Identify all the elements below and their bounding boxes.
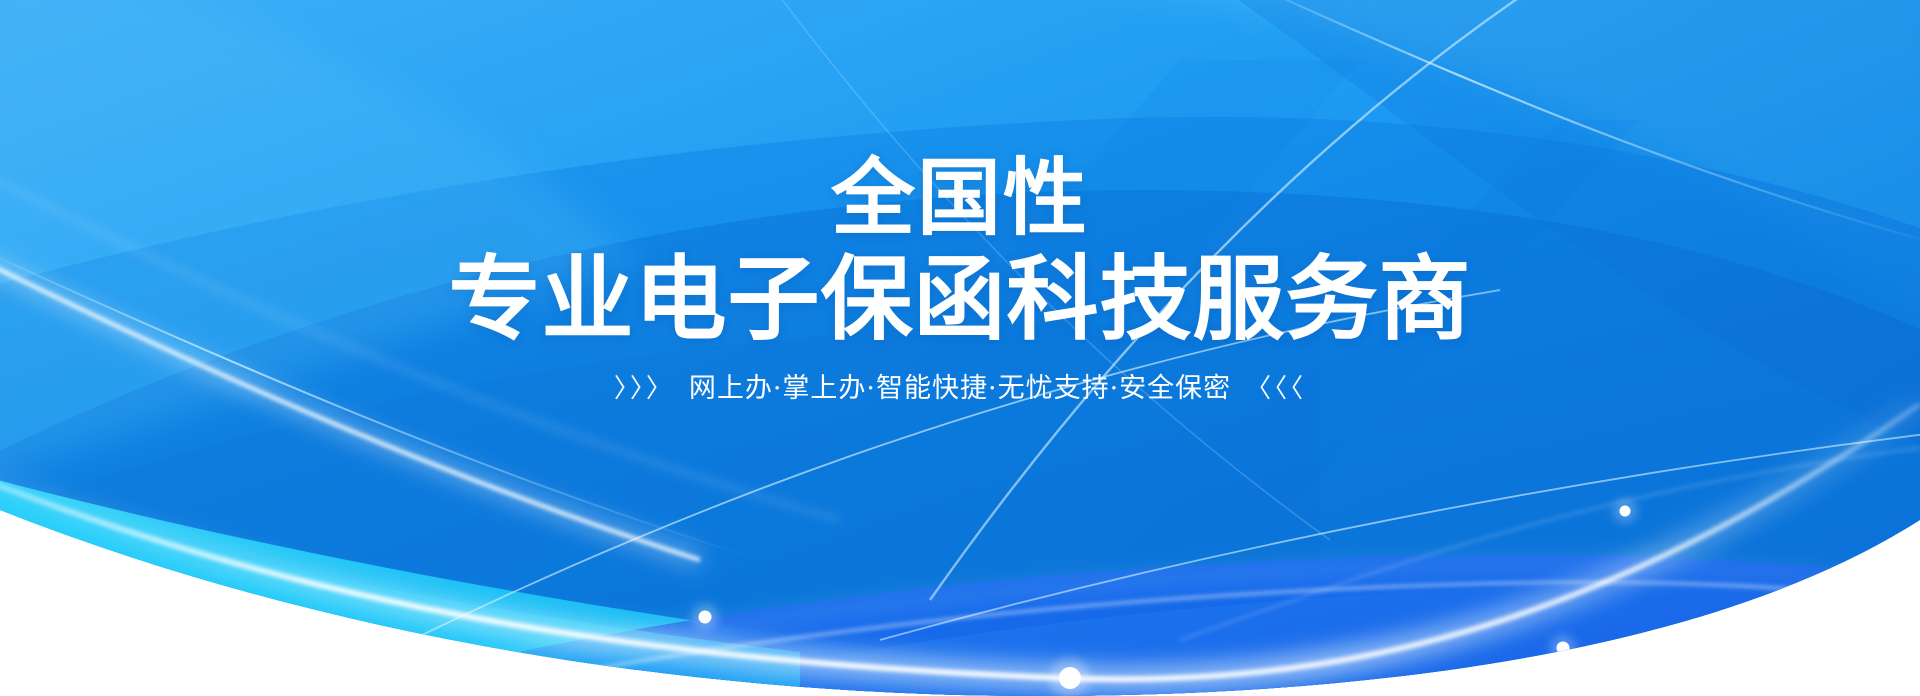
curve-dot-4: [1557, 642, 1570, 655]
headline-line-2: 专业电子保函科技服务商: [448, 246, 1471, 354]
headline-line-1: 全国性: [448, 150, 1471, 246]
hero-banner: 全国性 专业电子保函科技服务商 〉〉〉 网上办·掌上办·智能快捷·无忧支持·安全…: [0, 0, 1920, 696]
curve-dot-2: [1059, 667, 1081, 689]
chevrons-left-icon: 〉〉〉: [614, 374, 675, 404]
subtitle-text: 网上办·掌上办·智能快捷·无忧支持·安全保密: [689, 372, 1231, 406]
subtitle-row: 〉〉〉 网上办·掌上办·智能快捷·无忧支持·安全保密 〈〈〈: [614, 372, 1306, 406]
headline-block: 全国性 专业电子保函科技服务商: [448, 150, 1471, 354]
curve-dot-1: [699, 611, 712, 624]
chevrons-right-icon: 〈〈〈: [1245, 374, 1306, 404]
curve-dot-3: [1620, 506, 1631, 517]
